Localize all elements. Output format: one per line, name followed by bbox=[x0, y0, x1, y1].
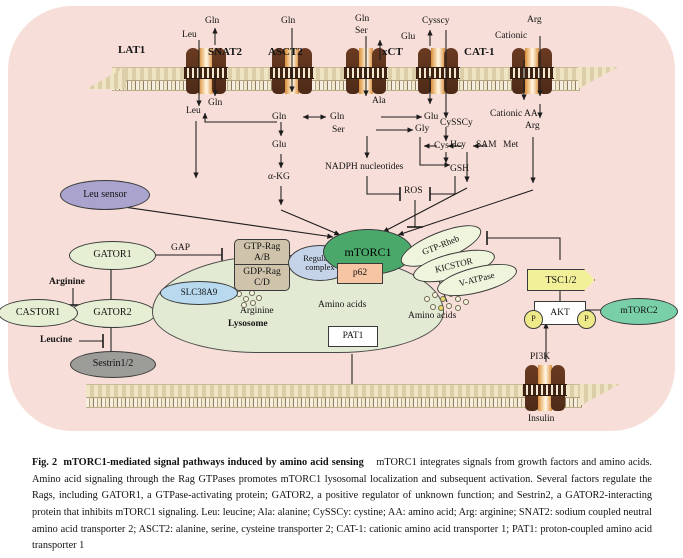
vatpase-label: V-ATPase bbox=[458, 271, 495, 289]
metabolite-gln-out-2: Gln bbox=[281, 16, 295, 26]
metabolite-gsh: GSH bbox=[450, 164, 469, 174]
node-sestrin[interactable]: Sestrin1/2 bbox=[70, 351, 156, 378]
node-gtp-rag[interactable]: GTP-Rag A/B bbox=[234, 239, 290, 266]
metabolite-gln-b: Gln bbox=[272, 112, 286, 122]
figure-caption: Fig. 2 mTORC1-mediated signal pathways i… bbox=[32, 455, 652, 555]
metabolite-ala: Ala bbox=[372, 96, 386, 106]
vesicle-dot bbox=[446, 303, 452, 309]
metabolite-glu-out-xct: Glu bbox=[401, 32, 415, 42]
metabolite-cys: Cys bbox=[434, 141, 449, 151]
metabolite-leu-in-top: Leu bbox=[182, 30, 197, 40]
basal-plasma-membrane bbox=[86, 384, 582, 408]
metabolite-gln-out-1: Gln bbox=[205, 16, 219, 26]
label-arginine-castor: Arginine bbox=[49, 277, 85, 287]
node-gdp-rag[interactable]: GDP-Rag C/D bbox=[234, 264, 290, 291]
metabolite-ser: Ser bbox=[332, 125, 345, 135]
metabolite-gly: Gly bbox=[415, 124, 429, 134]
gator2-label: GATOR2 bbox=[93, 308, 131, 319]
metabolite-cationic-top: Cationic bbox=[495, 31, 527, 41]
figure-label: Fig. 2 bbox=[32, 457, 57, 468]
label-xct: xCT bbox=[382, 46, 403, 58]
gdp-rag-label: GDP-Rag C/D bbox=[243, 267, 280, 288]
phospho-site-right: P bbox=[577, 310, 596, 329]
vesicle-dot bbox=[256, 295, 262, 301]
node-pat1[interactable]: PAT1 bbox=[328, 326, 378, 347]
node-p62[interactable]: p62 bbox=[337, 263, 383, 284]
figure-panel: LAT1 SNAT2 ASCT2 xCT CAT-1 Insulin PI3K … bbox=[0, 0, 683, 558]
vesicle-dot bbox=[455, 296, 461, 302]
metabolite-cysscy-in: CySSCy bbox=[440, 118, 473, 128]
figure-caption-text: mTORC1 integrates signals from growth fa… bbox=[32, 457, 652, 551]
transporter-cat1[interactable] bbox=[512, 48, 552, 94]
label-cat1: CAT-1 bbox=[464, 46, 495, 58]
p62-label: p62 bbox=[353, 268, 367, 278]
metabolite-cysscy-out: Cysscy bbox=[422, 16, 449, 26]
node-castor1[interactable]: CASTOR1 bbox=[0, 299, 78, 327]
metabolite-hcy: Hcy bbox=[450, 140, 466, 150]
metabolite-akg: α-KG bbox=[268, 172, 290, 182]
metabolite-gln-out-3: Gln bbox=[355, 14, 369, 24]
transporter-xct[interactable] bbox=[418, 48, 458, 94]
phospho-label: P bbox=[584, 315, 588, 323]
slc38a9-label: SLC38A9 bbox=[181, 288, 218, 297]
label-leucine-sestrin: Leucine bbox=[40, 335, 72, 345]
vesicle-dot bbox=[430, 304, 436, 310]
label-asct2: ASCT2 bbox=[268, 46, 303, 58]
vesicle-dot bbox=[432, 292, 438, 298]
vesicle-dot bbox=[250, 300, 256, 306]
transporter-insulin-receptor[interactable] bbox=[525, 365, 565, 411]
vesicle-dot bbox=[424, 296, 430, 302]
metabolite-gln-c: Gln bbox=[330, 112, 344, 122]
label-pi3k: PI3K bbox=[530, 352, 550, 362]
sestrin-label: Sestrin1/2 bbox=[93, 359, 134, 370]
metabolite-arg-in: Arg bbox=[525, 121, 540, 131]
metabolite-glu-in: Glu bbox=[424, 112, 438, 122]
akt-label: AKT bbox=[550, 308, 570, 318]
metabolite-leu-a: Leu bbox=[186, 106, 201, 116]
vesicle-dot bbox=[440, 296, 446, 302]
vesicle-dot bbox=[241, 302, 247, 308]
tsc12-label: TSC1/2 bbox=[545, 275, 576, 286]
metabolite-nadph: NADPH nucleotides bbox=[325, 162, 403, 172]
node-slc38a9[interactable]: SLC38A9 bbox=[160, 281, 238, 305]
label-amino-acids-center: Amino acids bbox=[318, 300, 366, 310]
castor1-label: CASTOR1 bbox=[16, 308, 60, 319]
phospho-label: P bbox=[531, 315, 535, 323]
metabolite-arg-out: Arg bbox=[527, 15, 542, 25]
metabolite-ser-out-3: Ser bbox=[355, 26, 368, 36]
vesicle-dot bbox=[463, 299, 469, 305]
node-gator1[interactable]: GATOR1 bbox=[69, 241, 156, 270]
label-snat2: SNAT2 bbox=[208, 46, 242, 58]
label-lysosome: Lysosome bbox=[228, 319, 268, 329]
phospho-site-left: P bbox=[524, 310, 543, 329]
pat1-label: PAT1 bbox=[343, 331, 364, 341]
vesicle-dot bbox=[455, 305, 461, 311]
label-lat1: LAT1 bbox=[118, 44, 145, 56]
label-gap: GAP bbox=[171, 243, 190, 253]
metabolite-gln-a: Gln bbox=[208, 98, 222, 108]
mtorc2-label: mTORC2 bbox=[620, 307, 657, 317]
node-tsc12[interactable]: TSC1/2 bbox=[527, 269, 595, 291]
mtorc1-label: mTORC1 bbox=[344, 246, 391, 259]
vesicle-dot bbox=[438, 305, 444, 311]
node-mtorc2[interactable]: mTORC2 bbox=[600, 298, 678, 325]
leu-sensor-label: Leu sensor bbox=[83, 190, 127, 201]
gtp-rag-label: GTP-Rag A/B bbox=[244, 242, 280, 263]
gator1-label: GATOR1 bbox=[93, 250, 131, 261]
metabolite-met: Met bbox=[503, 140, 518, 150]
metabolite-cationic-aa: Cationic AA bbox=[490, 109, 538, 119]
transporter-asct2[interactable] bbox=[346, 48, 386, 94]
metabolite-ros: ROS bbox=[404, 186, 422, 196]
metabolite-sam: SAM bbox=[476, 140, 497, 150]
node-gator2[interactable]: GATOR2 bbox=[69, 299, 156, 328]
label-amino-acids-right: Amino acids bbox=[408, 311, 456, 321]
figure-title: mTORC1-mediated signal pathways induced … bbox=[63, 457, 363, 468]
label-insulin: Insulin bbox=[528, 414, 554, 424]
metabolite-glu-d: Glu bbox=[272, 140, 286, 150]
node-leu-sensor[interactable]: Leu sensor bbox=[60, 180, 150, 210]
